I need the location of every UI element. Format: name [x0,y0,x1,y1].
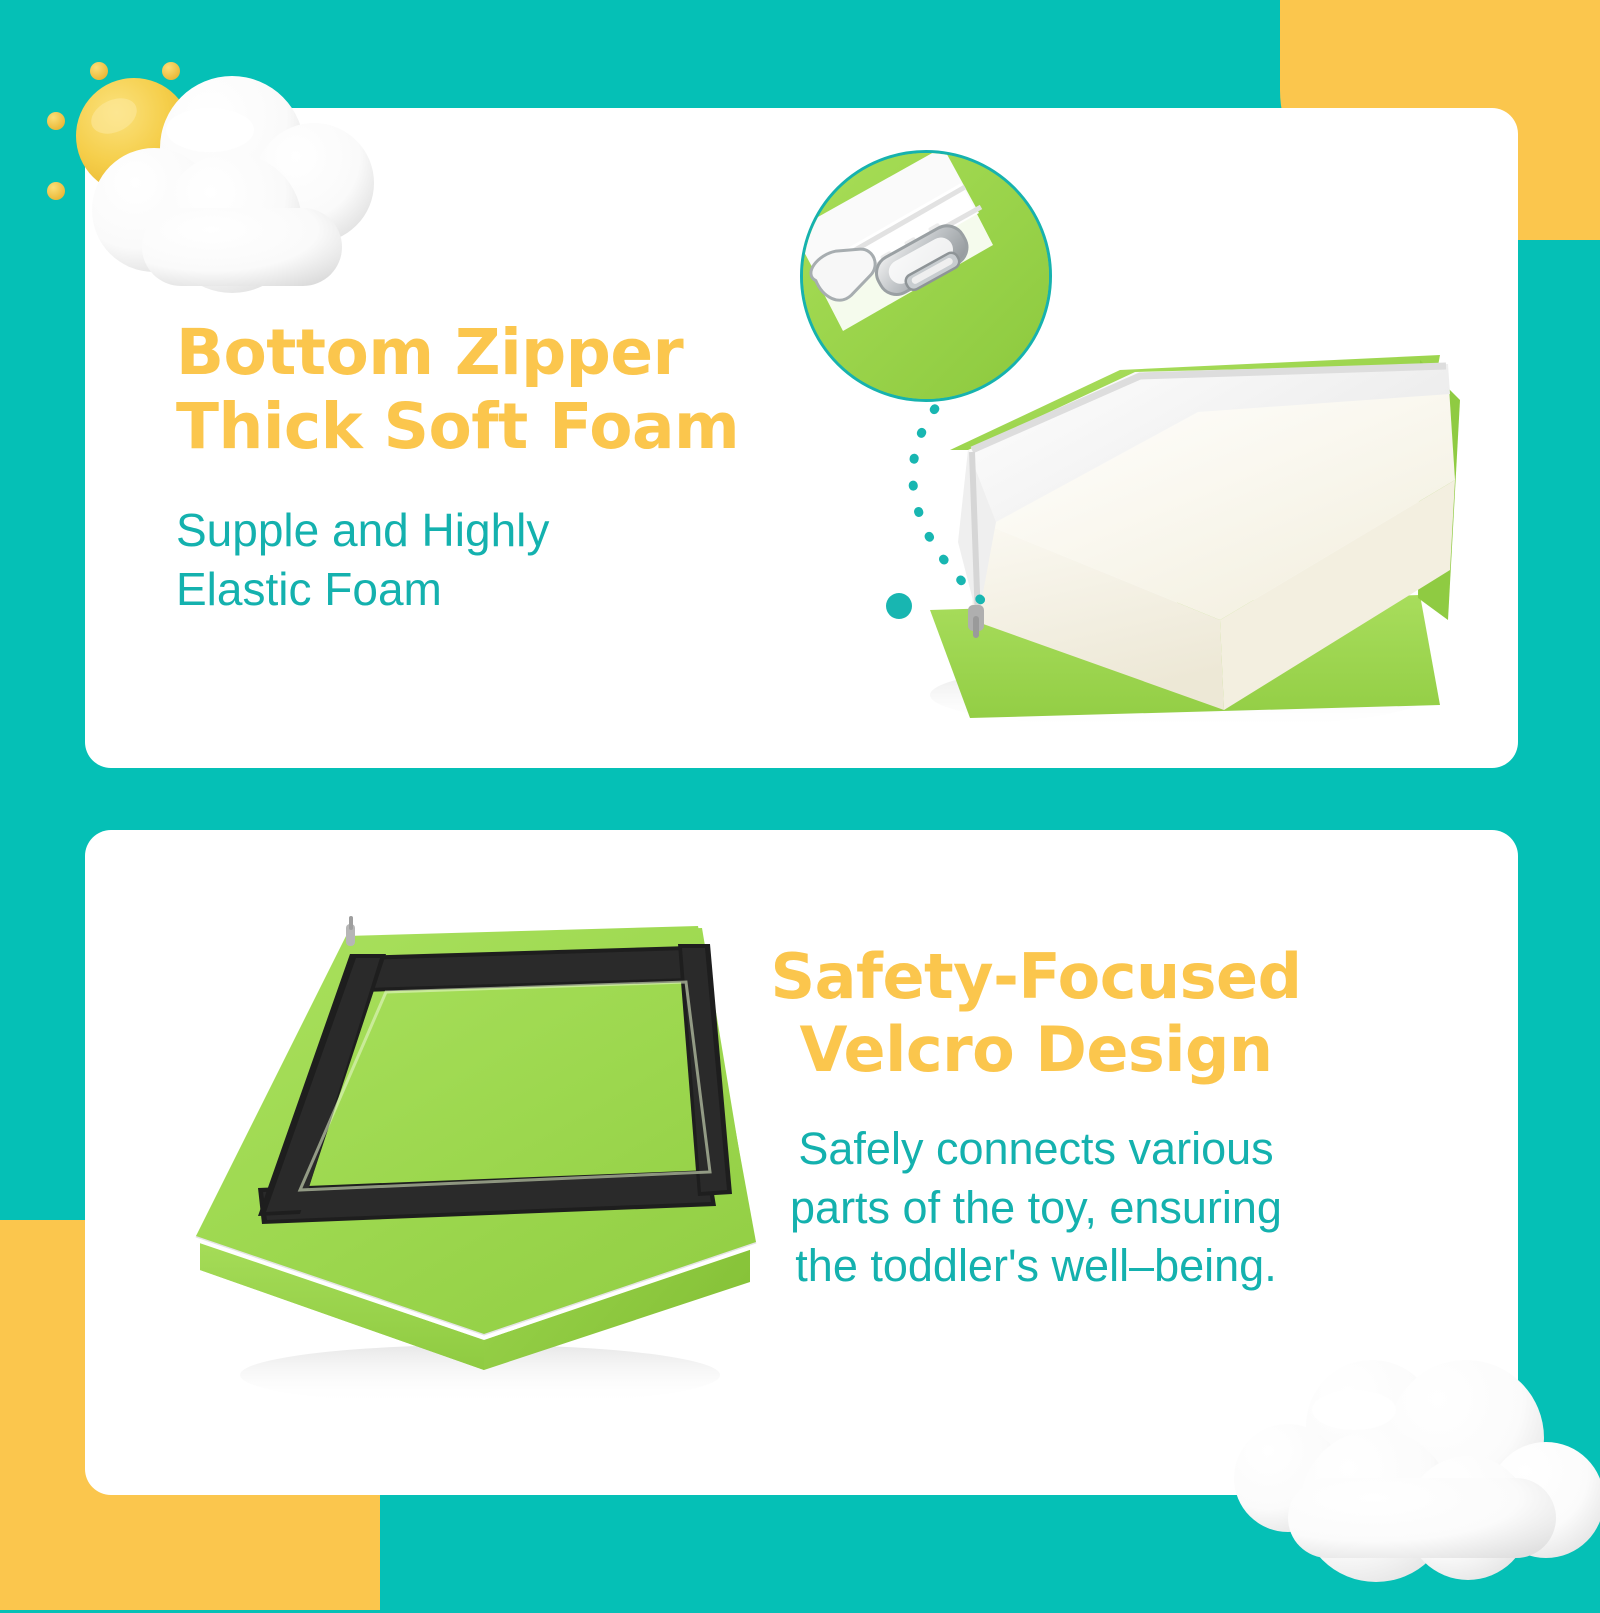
sun-and-cloud-decoration [14,18,374,298]
feature-subcopy: Safely connects various parts of the toy… [626,1120,1446,1296]
sun-cloud-illustration [14,18,374,298]
callout-connector-line [840,380,1040,630]
zipper-closeup-illustration [803,153,1049,399]
infographic-canvas: Bottom Zipper Thick Soft Foam Supple and… [0,0,1600,1600]
feature-text-bottom-zipper: Bottom Zipper Thick Soft Foam Supple and… [176,316,796,620]
product-photo-foam-block-unzipped [800,150,1500,750]
cloud-decoration-bottom-right [1176,1328,1600,1608]
feature-subcopy: Supple and Highly Elastic Foam [176,501,796,621]
feature-text-velcro-design: Safety-Focused Velcro Design Safely conn… [626,940,1446,1296]
section-title: Safety-Focused Velcro Design [626,940,1446,1086]
callout-endpoint-dot [886,593,912,619]
page-title: Bottom Zipper Thick Soft Foam [176,316,796,465]
zipper-closeup-callout [800,150,1052,402]
top-zipper-pull-icon [346,916,355,946]
cloud-icon [1176,1328,1600,1608]
